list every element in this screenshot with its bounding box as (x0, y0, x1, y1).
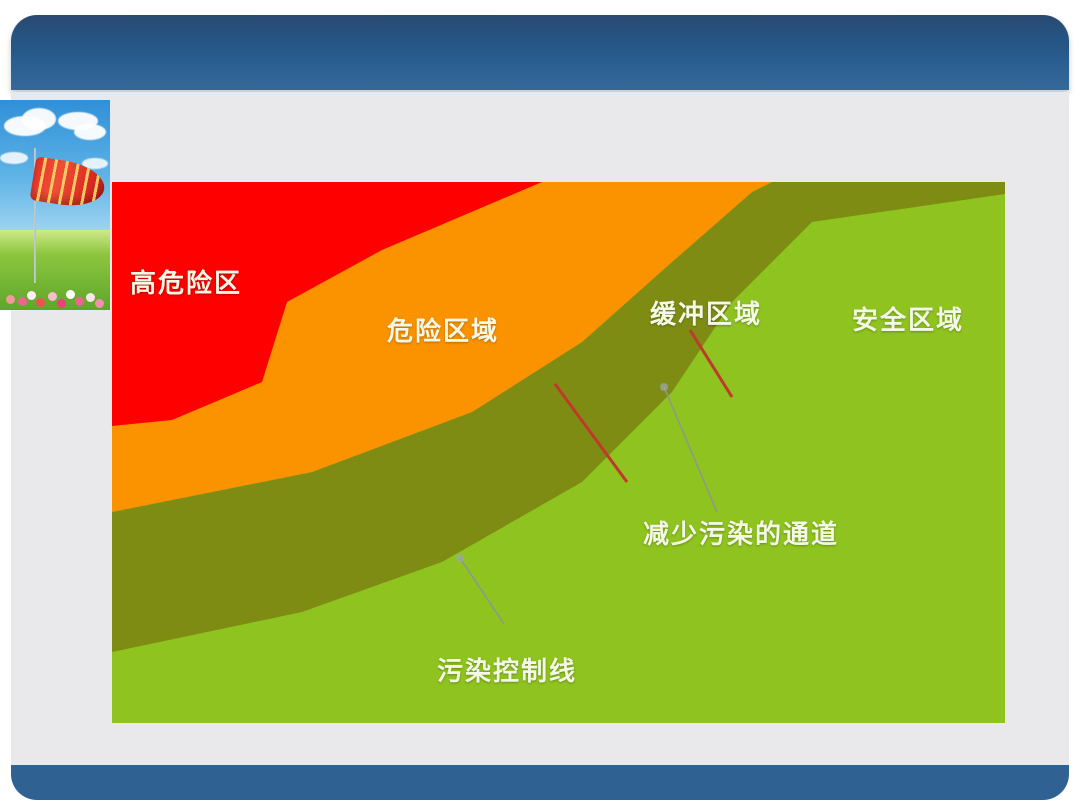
zone-label-high-risk: 高危险区 (130, 263, 242, 300)
slide-bottom-bar (11, 765, 1069, 800)
banner-sheen (11, 15, 1069, 49)
photo-flowers (0, 280, 110, 310)
slide-top-banner (11, 15, 1069, 90)
cloud-icon (0, 152, 28, 164)
leader-anchor-control (456, 554, 464, 562)
cloud-icon (74, 124, 106, 140)
zone-label-safe: 安全区域 (852, 300, 964, 337)
zone-label-buffer: 缓冲区域 (650, 294, 762, 331)
risk-zone-diagram (112, 182, 1005, 723)
slide: 高危险区 危险区域 缓冲区域 安全区域 减少污染的通道 污染控制线 (0, 0, 1080, 810)
cloud-icon (22, 108, 56, 130)
windsock-photo (0, 100, 110, 310)
leader-anchor-channel (660, 383, 668, 391)
callout-label-channel: 减少污染的通道 (643, 514, 839, 551)
callout-label-control: 污染控制线 (437, 651, 577, 688)
zone-label-danger: 危险区域 (387, 311, 499, 348)
